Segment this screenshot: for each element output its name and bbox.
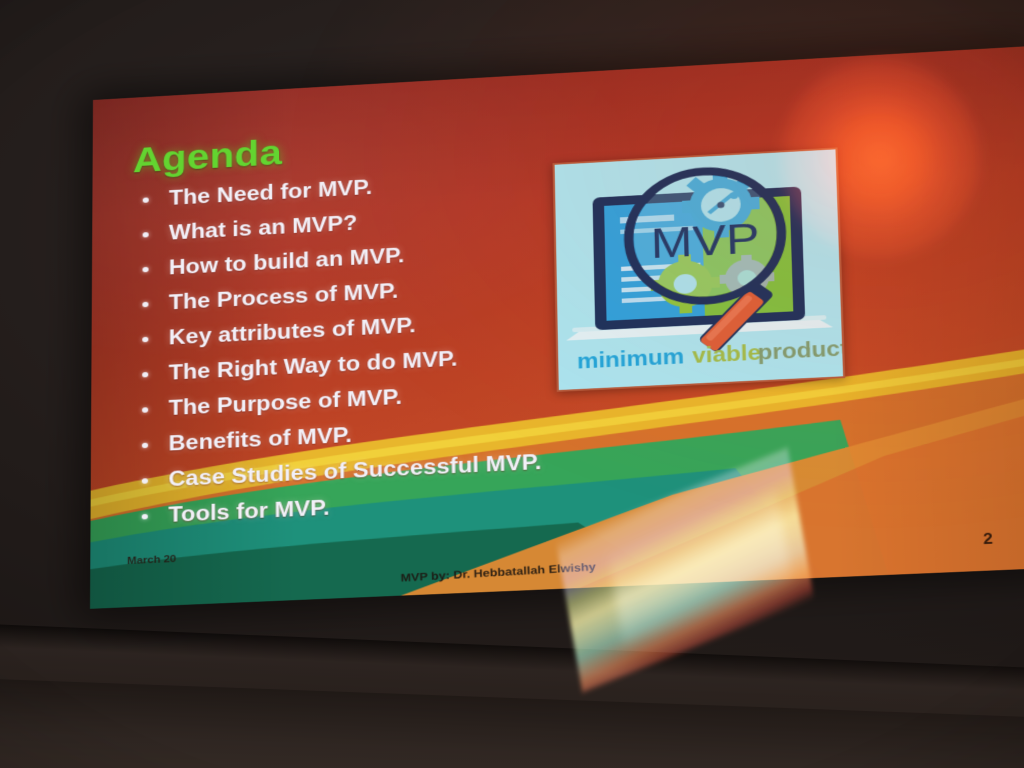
list-item: Tools for MVP. (133, 487, 569, 527)
floor-glow (0, 618, 1024, 768)
list-item: What is an MVP? (134, 202, 563, 245)
projection-screen: Agenda The Need for MVP. What is an MVP?… (90, 46, 1024, 609)
slide-surface: Agenda The Need for MVP. What is an MVP?… (90, 46, 1024, 609)
list-item: The Purpose of MVP. (134, 379, 567, 420)
footer-date: March 20 (127, 554, 176, 567)
list-item: How to build an MVP. (134, 237, 564, 280)
caption-product: product (757, 337, 843, 365)
agenda-bullet-list: The Need for MVP. What is an MVP? How to… (133, 167, 569, 542)
mvp-illustration: MVP minimum viable product (553, 147, 846, 391)
mvp-lens-label: MVP (650, 215, 760, 267)
slide-number: 2 (983, 532, 993, 549)
list-item: Benefits of MVP. (134, 415, 568, 456)
slide-title: Agenda (133, 134, 282, 181)
list-item: The Process of MVP. (134, 272, 565, 314)
caption-viable: viable (692, 341, 761, 368)
photo-canvas: Agenda The Need for MVP. What is an MVP?… (0, 0, 1024, 768)
list-item: Case Studies of Successful MVP. (134, 451, 569, 492)
list-item: The Right Way to do MVP. (134, 343, 567, 385)
list-item: Key attributes of MVP. (134, 308, 566, 350)
